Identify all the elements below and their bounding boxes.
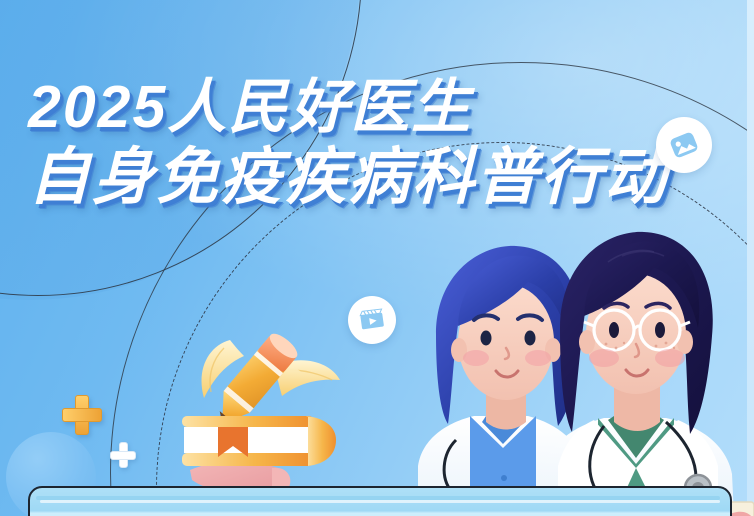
doctors-illustration: [408, 216, 754, 516]
plus-orange-icon: [62, 395, 102, 435]
plus-white-icon: [110, 442, 136, 468]
video-clapperboard-icon: [357, 305, 387, 335]
video-badge[interactable]: [348, 296, 396, 344]
orange-book: [180, 410, 340, 480]
counter-desk-highlight: [36, 496, 720, 500]
book-top-cover: [182, 416, 314, 427]
doctor-glasses: [540, 232, 754, 516]
doctor-left-eye: [481, 331, 492, 346]
photo-badge[interactable]: [656, 117, 712, 173]
counter-desk: [28, 486, 732, 516]
doctor-left-eye: [525, 331, 536, 346]
doctor-right-eye: [609, 322, 619, 338]
poster-banner: 2025人民好医生 自身免疫疾病科普行动: [0, 0, 754, 516]
doctor-right-eye: [655, 322, 665, 338]
image-photo-icon: [667, 128, 701, 162]
book-spine: [306, 416, 336, 466]
